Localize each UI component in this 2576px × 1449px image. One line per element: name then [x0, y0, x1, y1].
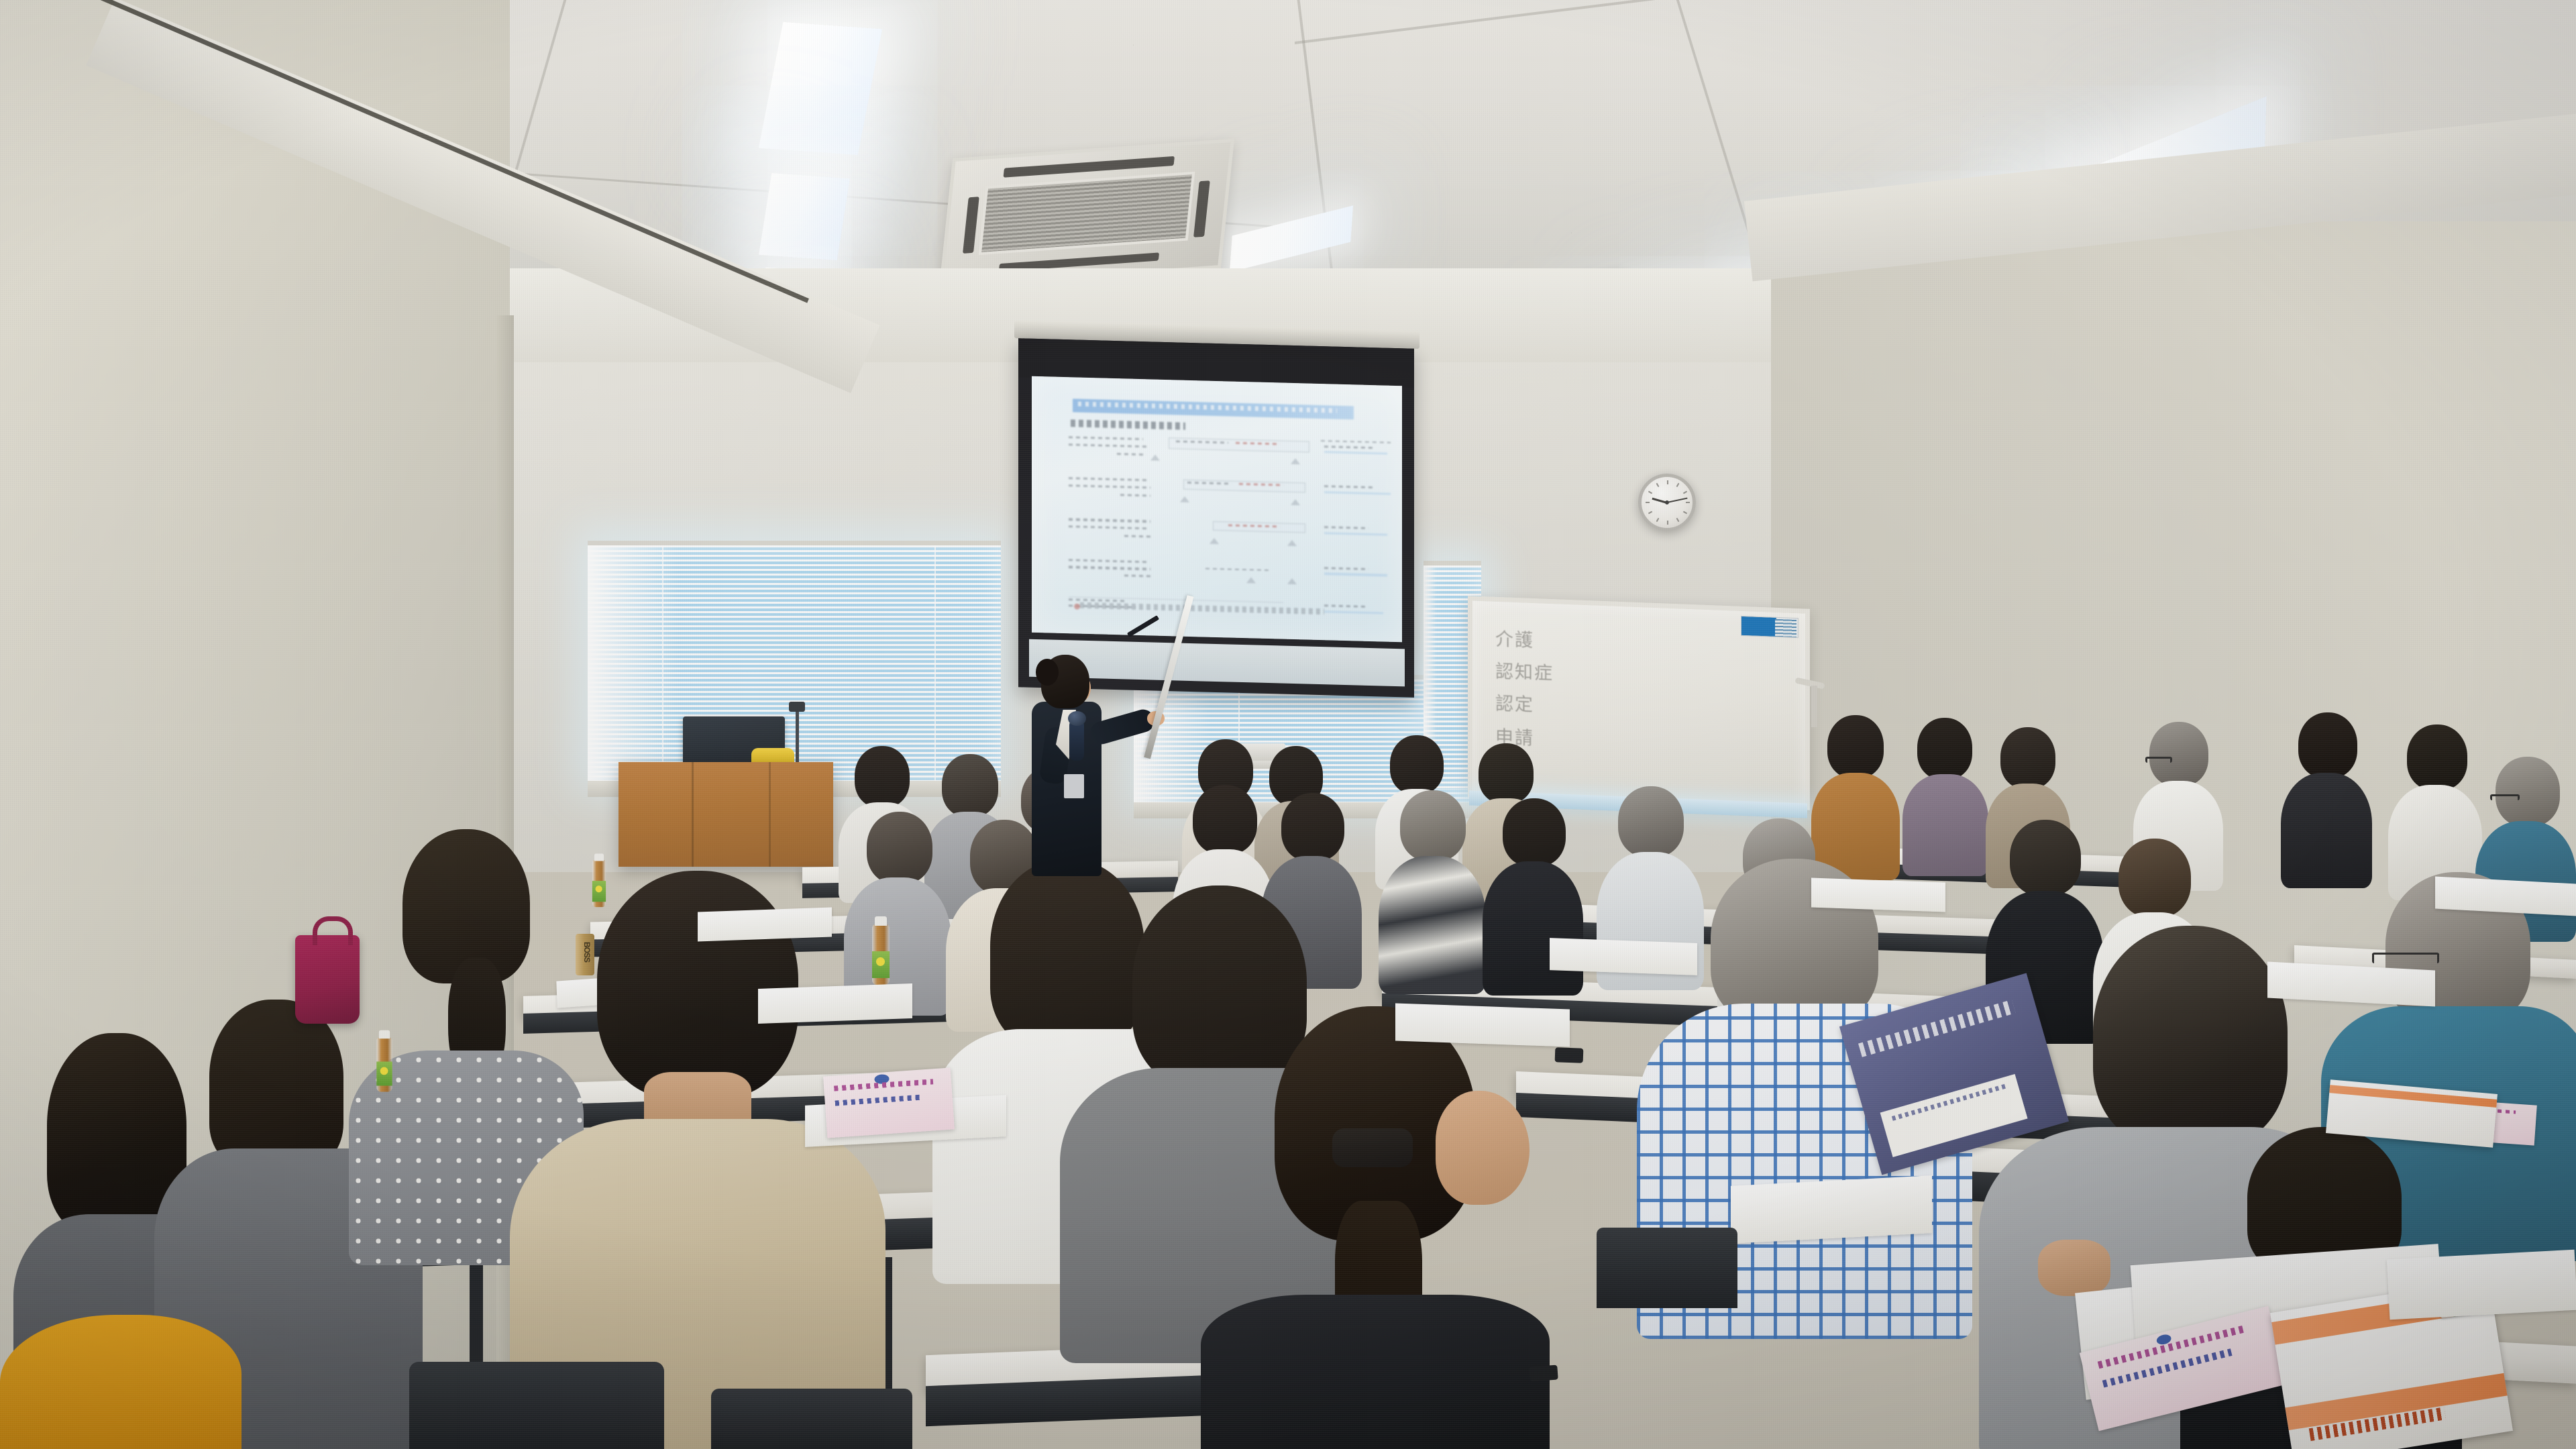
person-torso [1201, 1295, 1550, 1449]
handout-paper [1811, 878, 1945, 912]
person-head [1193, 785, 1257, 855]
slide-arrow-icon [1210, 538, 1219, 544]
glasses-icon [2145, 757, 2172, 763]
clock-tick [1656, 483, 1660, 487]
clock-tick [1646, 502, 1650, 503]
green-tea-bottle [592, 860, 606, 907]
person-head [2495, 757, 2560, 826]
slide-row [1032, 558, 1402, 598]
pink-handout [823, 1067, 955, 1138]
audience-member [2281, 712, 2372, 880]
slide-row-left-text [1069, 518, 1150, 523]
chair-back [711, 1389, 912, 1449]
clock-tick [1667, 521, 1668, 525]
handout-subheading [2102, 1348, 2233, 1387]
handout-paper [1731, 1175, 1932, 1244]
person-torso [1483, 861, 1583, 996]
slide-highlight-blue [1324, 532, 1387, 536]
lectern [619, 762, 833, 867]
slide-row-right-text [1324, 567, 1368, 570]
ac-grille [979, 172, 1195, 255]
window-left [588, 541, 1001, 782]
person-head [2298, 712, 2357, 778]
slide-row-left-text [1069, 566, 1150, 570]
person-head [2149, 722, 2208, 786]
slide-row-left-text [1069, 477, 1146, 482]
wall-clock [1638, 474, 1696, 531]
blind-cord [662, 545, 663, 782]
person-head [1917, 718, 1972, 780]
person-face [1436, 1091, 1529, 1205]
person-head [2407, 724, 2467, 790]
person-head [942, 754, 998, 817]
glasses-icon [2490, 794, 2520, 800]
slide-row-left-text [1069, 559, 1146, 563]
slide-highlight-blue [1324, 451, 1387, 455]
clock-tick [1686, 502, 1690, 503]
audience-member [0, 1315, 241, 1449]
gooseneck-microphone-head [789, 702, 805, 712]
slide-highlight-blue [1324, 573, 1387, 577]
gooseneck-microphone-stand [796, 707, 799, 765]
slide-arrow-icon [1180, 496, 1189, 502]
person-torso [2281, 773, 2372, 888]
projection-screen[interactable] [1018, 338, 1414, 697]
slide-highlight-blue [1324, 610, 1383, 614]
slide-highlight-blue [1324, 491, 1391, 495]
person-head [1479, 743, 1534, 804]
slide-row-left-text [1069, 443, 1146, 448]
green-tea-bottle [376, 1038, 392, 1092]
hair-clip [1332, 1128, 1413, 1167]
person-head [855, 746, 910, 808]
slide-row-center-box [1169, 437, 1309, 452]
slide-row-right-text [1321, 440, 1391, 443]
bottle-label [592, 881, 606, 902]
whiteboard-handwriting-line: 認定 [1495, 689, 1534, 716]
bottle-cap [379, 1030, 390, 1039]
slide-arrow-icon [1287, 540, 1297, 546]
chair-back [409, 1362, 664, 1449]
person-head [1618, 786, 1684, 857]
mobile-phone [1555, 1047, 1584, 1063]
mobile-phone [1529, 1365, 1558, 1382]
person-head [1390, 735, 1444, 794]
person-head [2000, 727, 2055, 789]
audience-member [1902, 718, 1988, 867]
slide-content [1032, 376, 1402, 642]
chair-back [1597, 1228, 1737, 1308]
bottle-label [376, 1062, 392, 1086]
slide-row-left-text [1069, 598, 1124, 602]
slide-arrow-icon [1246, 578, 1256, 584]
slide-section-heading [1071, 419, 1185, 430]
audience-member [510, 871, 885, 1448]
ac-vent-slot [1003, 156, 1175, 177]
handout-paper [2387, 1250, 2576, 1320]
person-head [2093, 926, 2288, 1147]
bottle-cap [875, 916, 887, 926]
clock-tick [1667, 480, 1668, 484]
person-head [1281, 793, 1344, 861]
handout-paper [758, 983, 912, 1024]
handout-subheading [835, 1094, 922, 1106]
slide-header-text [1078, 402, 1337, 413]
clock-tick [1648, 511, 1652, 515]
audience-member [2388, 724, 2482, 892]
clock-tick [1656, 518, 1660, 522]
clock-center-pin [1665, 500, 1669, 504]
slide-row-right-text [1324, 605, 1365, 608]
handout-paper [1395, 1003, 1570, 1046]
presenter [1005, 655, 1146, 876]
projected-slide [1032, 376, 1402, 642]
slide-row-right-text [1324, 445, 1373, 449]
person-head [209, 1000, 343, 1167]
window-daylight-glow [588, 545, 679, 782]
person-head [2118, 839, 2191, 918]
person-torso [0, 1315, 241, 1449]
handout-paper [1550, 938, 1697, 975]
slide-arrow-icon [1287, 578, 1297, 584]
bottle-cap [594, 854, 604, 861]
slide-row-right-text [1324, 485, 1373, 488]
slide-header-bar [1073, 399, 1354, 420]
person-head [1400, 790, 1466, 861]
slide-row-center-box [1183, 480, 1305, 493]
slide-row [1032, 435, 1402, 478]
slide-arrow-icon [1291, 499, 1300, 505]
audience-member [1201, 1006, 1550, 1449]
slide-arrow-icon [1291, 458, 1300, 464]
slide-row-left-text [1069, 525, 1146, 530]
slide-row [1032, 476, 1402, 519]
glasses-icon [2372, 953, 2439, 963]
ceiling-light-fixture [759, 173, 850, 260]
slide-row-center-text [1205, 568, 1269, 571]
presenter-hair-bun [1036, 659, 1059, 686]
clock-tick [1676, 483, 1680, 487]
clock-minute-hand [1667, 498, 1688, 503]
whiteboard-sticker [1741, 616, 1799, 638]
ac-vent-slot [963, 197, 979, 254]
clock-tick [1648, 491, 1652, 494]
person-head [1827, 715, 1884, 778]
audience-member [1429, 1091, 1597, 1225]
ceiling-air-conditioner [939, 139, 1234, 288]
slide-row-left-text [1120, 494, 1150, 496]
slide-row-left-text [1117, 453, 1146, 455]
slide-row-left-text [1069, 436, 1142, 440]
person-torso [1379, 856, 1486, 994]
green-tea-bottle [872, 924, 890, 985]
person-head [2010, 820, 2081, 896]
person-hand [2038, 1240, 2110, 1296]
ac-vent-slot [1193, 180, 1210, 237]
slide-row-center-box [1213, 521, 1305, 533]
classroom-photo: 介護 認知症 認定 申請 相談 9:13 [0, 0, 2576, 1449]
slide-row-left-text [1124, 535, 1150, 537]
slide-arrow-icon [1150, 454, 1160, 460]
presenter-name-badge [1064, 774, 1084, 798]
slide-row [1032, 517, 1402, 560]
whiteboard-handwriting-line: 認知症 [1495, 657, 1554, 685]
whiteboard-handwriting-line: 介護 [1495, 625, 1534, 652]
slide-row-right-text [1324, 526, 1368, 529]
slide-row-left-text [1124, 575, 1150, 578]
clock-tick [1676, 518, 1680, 522]
microphone-head [1068, 711, 1086, 726]
audience-member [1379, 790, 1486, 985]
bottle-label [872, 951, 890, 978]
blind-cord [934, 545, 936, 782]
handout-paper [698, 908, 832, 942]
slide-row-left-text [1069, 484, 1150, 489]
clock-tick [1683, 491, 1687, 494]
person-head [597, 871, 798, 1099]
clock-tick [1683, 511, 1687, 515]
person-head [1503, 798, 1566, 867]
